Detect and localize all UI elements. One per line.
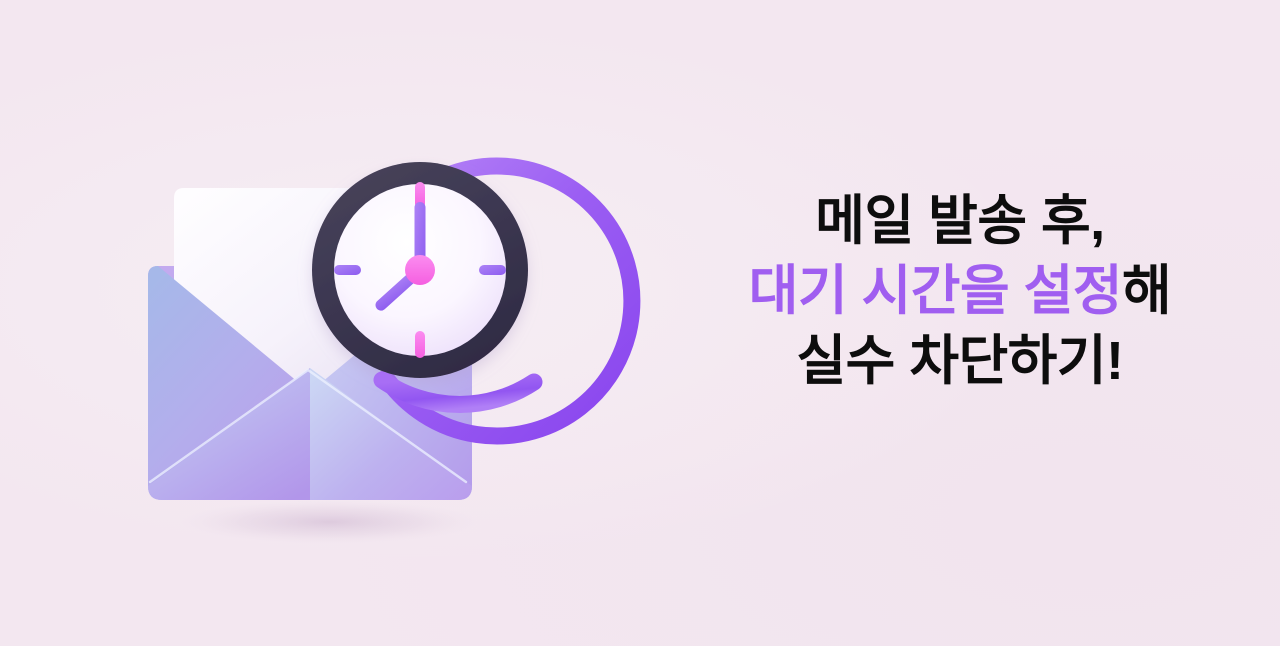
headline-accent-text: 대기 시간을 설정	[749, 261, 1122, 321]
headline-line-2-suffix: 해	[1122, 261, 1171, 321]
clock-marker-9	[334, 265, 361, 275]
promo-banner: 메일 발송 후, 대기 시간을 설정해 실수 차단하기!	[0, 0, 1280, 646]
headline-line-1-text: 메일 발송 후,	[815, 191, 1104, 251]
headline-line-3-text: 실수 차단하기!	[796, 331, 1123, 391]
clock-marker-3	[479, 265, 506, 275]
headline-line-1: 메일 발송 후,	[660, 186, 1260, 256]
headline: 메일 발송 후, 대기 시간을 설정해 실수 차단하기!	[660, 186, 1260, 397]
clock	[312, 162, 528, 378]
headline-line-3: 실수 차단하기!	[660, 326, 1260, 396]
headline-line-2: 대기 시간을 설정해	[660, 256, 1260, 326]
clock-center-dot	[405, 255, 435, 285]
envelope-clock-illustration	[110, 80, 630, 560]
ground-shadow	[180, 500, 480, 544]
clock-marker-6	[415, 331, 425, 358]
